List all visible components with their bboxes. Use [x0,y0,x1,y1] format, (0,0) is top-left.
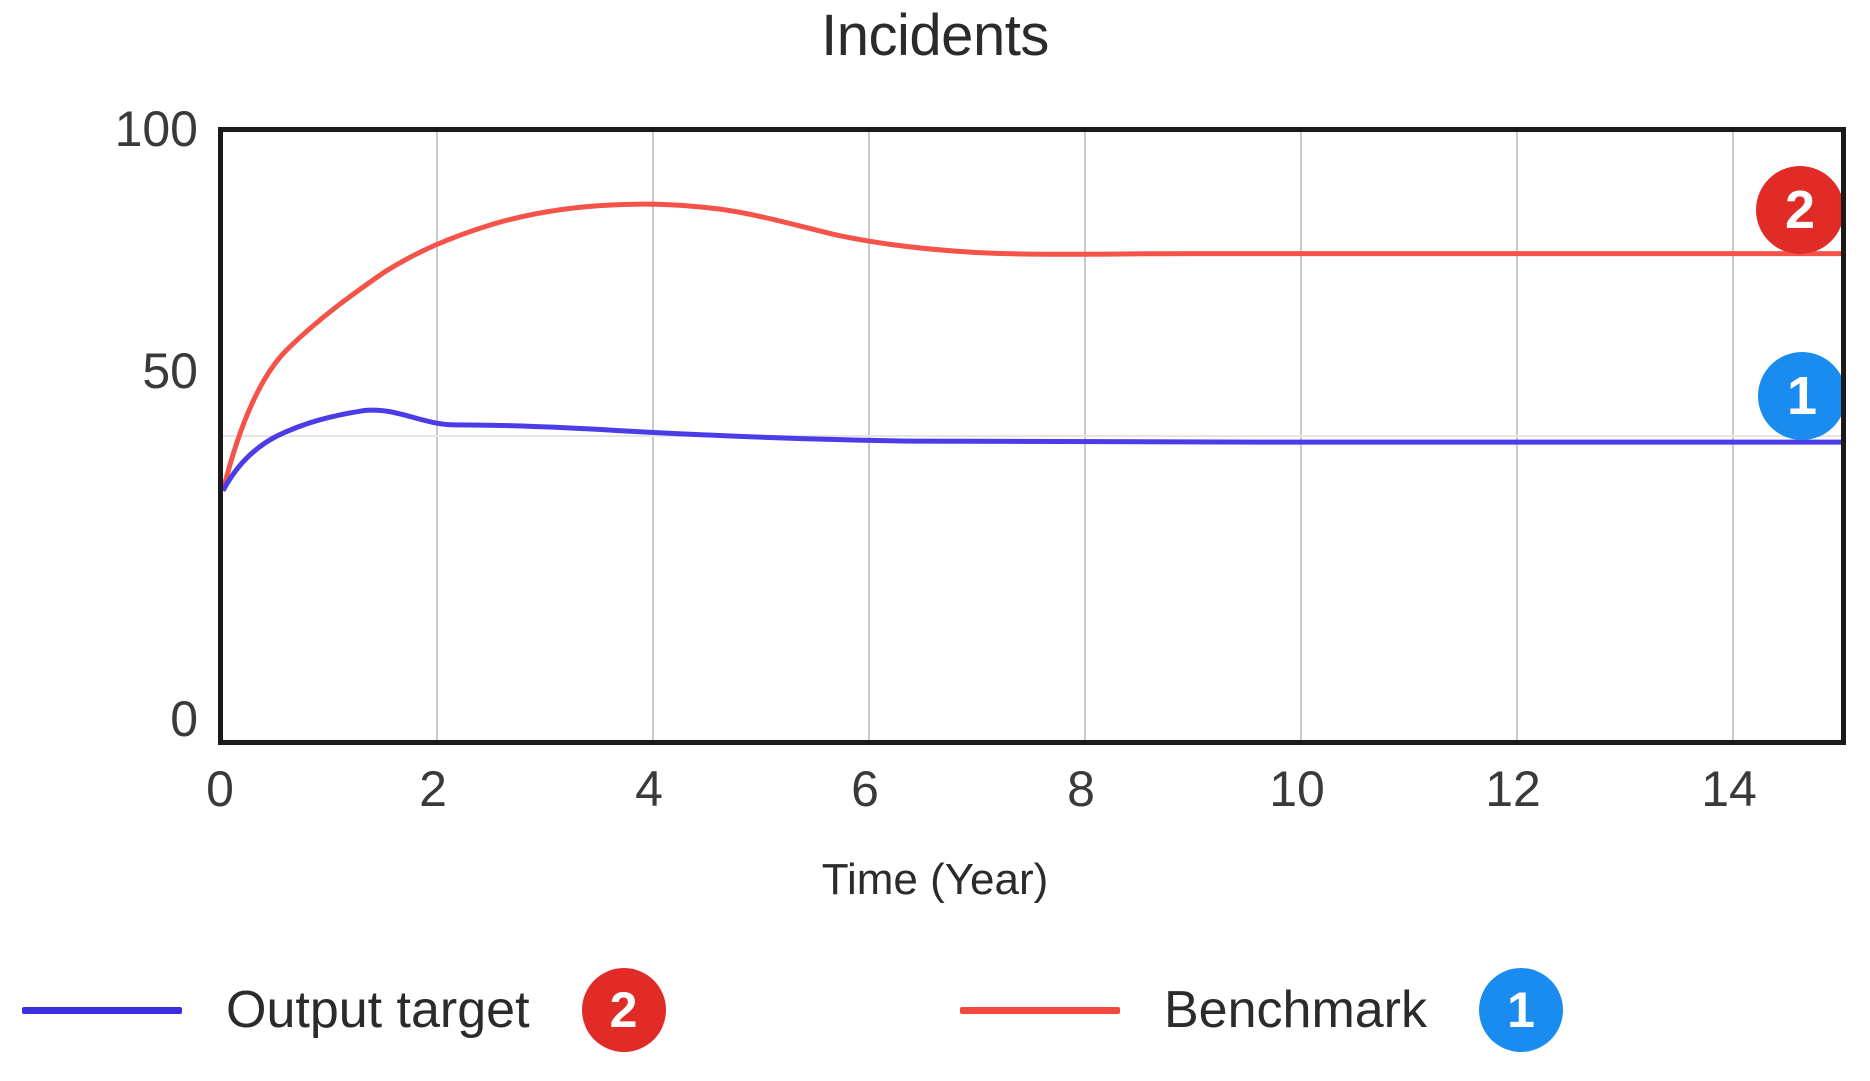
y-tick-label-0: 0 [48,690,198,748]
series-line-benchmark [223,204,1841,491]
legend-label-output-target: Output target [226,980,530,1040]
x-tick-label-2: 2 [373,760,493,818]
legend-badge-benchmark[interactable]: 1 [1479,968,1563,1052]
chart-container: Incidents 100 50 0 2 1 [0,0,1870,1081]
legend-swatch-benchmark [960,1007,1120,1014]
legend-swatch-output-target [22,1007,182,1014]
series-line-output-target [223,410,1841,491]
legend-item-benchmark[interactable]: Benchmark 1 [960,965,1479,1055]
plot-area: 2 1 [218,127,1846,745]
plot-inner: 2 1 [223,132,1841,740]
x-tick-label-6: 6 [805,760,925,818]
chart-title: Incidents [0,6,1870,67]
x-tick-label-8: 8 [1021,760,1141,818]
y-tick-label-50: 50 [48,342,198,400]
legend-badge-output-target[interactable]: 2 [582,968,666,1052]
annotation-badge-output-target[interactable]: 1 [1758,352,1841,440]
legend-label-benchmark: Benchmark [1164,980,1427,1040]
x-axis-title: Time (Year) [0,855,1870,905]
x-tick-label-14: 14 [1669,760,1789,818]
x-tick-label-0: 0 [160,760,280,818]
x-tick-label-12: 12 [1453,760,1573,818]
x-tick-label-10: 10 [1237,760,1357,818]
series-layer [223,132,1841,740]
annotation-badge-benchmark[interactable]: 2 [1756,166,1841,254]
chart-legend: Output target 2 Benchmark 1 [0,965,1870,1075]
legend-item-output-target[interactable]: Output target 2 [22,965,582,1055]
y-tick-label-100: 100 [48,100,198,158]
x-tick-label-4: 4 [589,760,709,818]
